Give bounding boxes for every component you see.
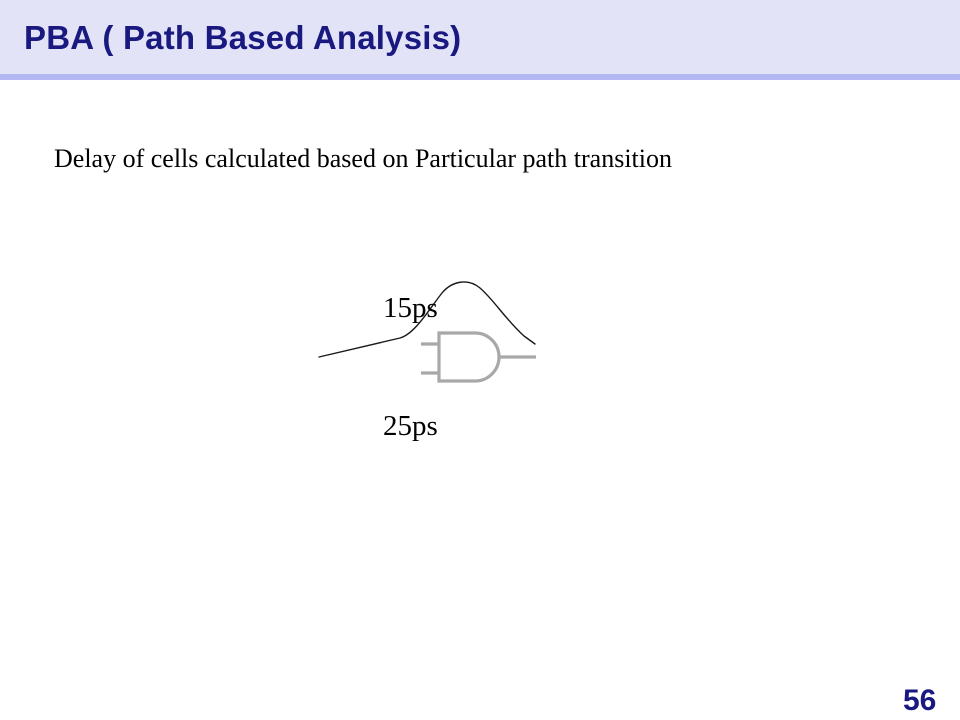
- figure-svg: [300, 260, 600, 460]
- slide-header: PBA ( Path Based Analysis): [0, 0, 960, 74]
- and-gate-path-delay-diagram: [300, 260, 600, 460]
- delay-label-15ps: 15ps: [383, 292, 438, 324]
- slide-body-text: Delay of cells calculated based on Parti…: [54, 142, 672, 176]
- delay-label-25ps: 25ps: [383, 410, 438, 442]
- and-gate-icon: [421, 333, 536, 381]
- header-divider: [0, 74, 960, 80]
- and-gate-body: [439, 333, 499, 381]
- page-title: PBA ( Path Based Analysis): [24, 18, 461, 58]
- page-number: 56: [903, 684, 936, 718]
